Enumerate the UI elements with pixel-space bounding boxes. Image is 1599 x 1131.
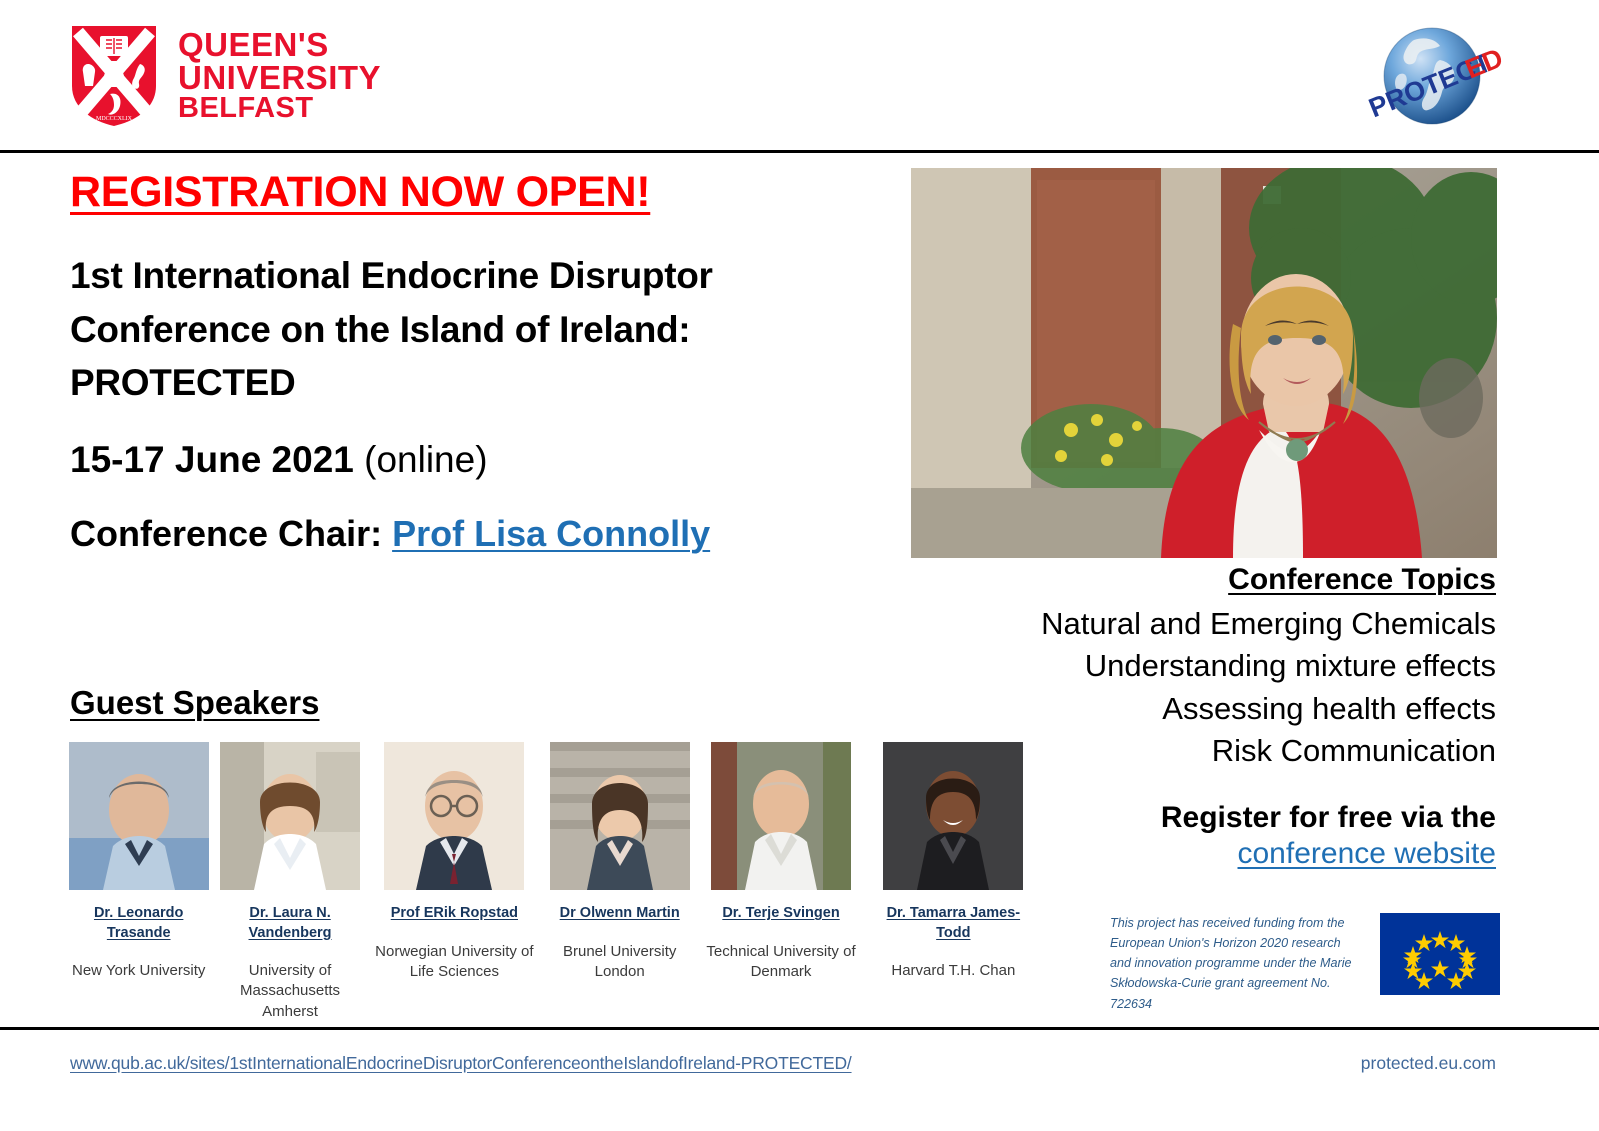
speaker-card: Dr. Leonardo Trasande New York Universit… xyxy=(68,742,209,1022)
speaker-photo-svingen xyxy=(711,742,851,890)
conference-chair-link[interactable]: Prof Lisa Connolly xyxy=(392,513,710,554)
speaker-affiliation: Harvard T.H. Chan xyxy=(891,961,1015,981)
conference-website-link[interactable]: conference website xyxy=(856,835,1496,873)
topic-item: Natural and Emerging Chemicals xyxy=(856,603,1496,645)
eu-funding-statement: This project has received funding from t… xyxy=(1110,913,1362,1014)
speaker-photo-trasande xyxy=(69,742,209,890)
speaker-photo-ropstad xyxy=(384,742,524,890)
protected-project-logo: PROTECT ED xyxy=(1354,14,1504,134)
qub-name-line3: BELFAST xyxy=(178,94,381,122)
topic-item: Assessing health effects xyxy=(856,688,1496,730)
speaker-name-link[interactable]: Prof ERik Ropstad xyxy=(391,904,518,924)
conference-chair: Conference Chair: Prof Lisa Connolly xyxy=(70,512,880,555)
speaker-card: Dr. Tamarra James-Todd Harvard T.H. Chan xyxy=(879,742,1028,1022)
register-label: Register for free via the xyxy=(856,800,1496,835)
speaker-affiliation: University of Massachusetts Amherst xyxy=(219,961,360,1022)
footer-divider xyxy=(0,1027,1599,1030)
speaker-affiliation: Technical University of Denmark xyxy=(705,942,856,983)
eu-flag-icon xyxy=(1380,913,1500,995)
speaker-name-link[interactable]: Dr. Leonardo Trasande xyxy=(68,904,209,943)
qub-name-line2: UNIVERSITY xyxy=(178,62,381,94)
qub-name-line1: QUEEN'S xyxy=(178,29,381,61)
footer-qub-url[interactable]: www.qub.ac.uk/sites/1stInternationalEndo… xyxy=(70,1053,852,1074)
conference-topics: Conference Topics Natural and Emerging C… xyxy=(856,563,1496,773)
registration-announcement: REGISTRATION NOW OPEN! xyxy=(70,168,880,217)
speaker-affiliation: New York University xyxy=(72,961,205,981)
guest-speakers-list: Dr. Leonardo Trasande New York Universit… xyxy=(68,742,1028,1022)
guest-speakers-heading: Guest Speakers xyxy=(70,684,319,722)
page-header: MDCCCXLIX QUEEN'S UNIVERSITY BELFAST xyxy=(0,0,1599,152)
speaker-card: Dr Olwenn Martin Brunel University Londo… xyxy=(548,742,691,1022)
conference-date-mode: (online) xyxy=(364,439,487,480)
speaker-affiliation: Brunel University London xyxy=(548,942,691,983)
eu-funding-block: This project has received funding from t… xyxy=(1110,913,1500,1014)
speaker-card: Dr. Terje Svingen Technical University o… xyxy=(705,742,856,1022)
speaker-card: Prof ERik Ropstad Norwegian University o… xyxy=(375,742,534,1022)
qub-logo: MDCCCXLIX QUEEN'S UNIVERSITY BELFAST xyxy=(70,24,381,128)
speaker-name-link[interactable]: Dr. Tamarra James-Todd xyxy=(879,904,1028,943)
footer-protected-url[interactable]: protected.eu.com xyxy=(1361,1053,1496,1074)
speaker-photo-vandenberg xyxy=(220,742,360,890)
conference-topics-heading: Conference Topics xyxy=(856,563,1496,597)
conference-chair-label: Conference Chair: xyxy=(70,513,382,554)
conference-date: 15-17 June 2021 (online) xyxy=(70,438,880,482)
speaker-photo-martin xyxy=(550,742,690,890)
conference-title-line-2: Conference on the Island of Ireland: xyxy=(70,303,880,357)
main-left-column: REGISTRATION NOW OPEN! 1st International… xyxy=(70,168,880,556)
conference-title: 1st International Endocrine Disruptor Co… xyxy=(70,249,880,410)
speaker-card: Dr. Laura N. Vandenberg University of Ma… xyxy=(219,742,360,1022)
speaker-name-link[interactable]: Dr. Laura N. Vandenberg xyxy=(219,904,360,943)
conference-chair-portrait xyxy=(911,168,1497,558)
topic-item: Risk Communication xyxy=(856,730,1496,772)
header-divider xyxy=(0,150,1599,153)
conference-title-line-3: PROTECTED xyxy=(70,356,880,410)
speaker-name-link[interactable]: Dr Olwenn Martin xyxy=(560,904,680,924)
conference-topics-items: Natural and Emerging Chemicals Understan… xyxy=(856,603,1496,773)
svg-text:MDCCCXLIX: MDCCCXLIX xyxy=(96,116,133,122)
conference-title-line-1: 1st International Endocrine Disruptor xyxy=(70,249,880,303)
speaker-affiliation: Norwegian University of Life Sciences xyxy=(375,942,534,983)
conference-date-value: 15-17 June 2021 xyxy=(70,439,354,480)
register-callout: Register for free via the conference web… xyxy=(856,800,1496,873)
qub-shield-crest-icon: MDCCCXLIX xyxy=(70,24,158,128)
speaker-name-link[interactable]: Dr. Terje Svingen xyxy=(722,904,839,924)
topic-item: Understanding mixture effects xyxy=(856,645,1496,687)
